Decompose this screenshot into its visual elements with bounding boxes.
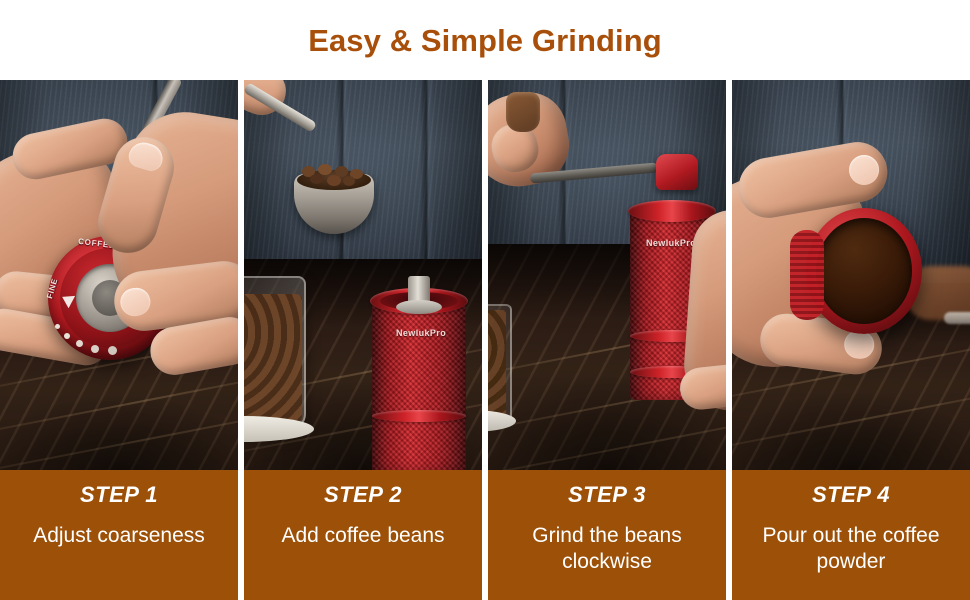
bean-jar [244, 276, 306, 430]
jar-beans [488, 310, 506, 418]
step-panel-4: STEP 4 Pour out the coffee powder [732, 80, 970, 600]
coffee-bean [310, 174, 323, 184]
grinder-threaded-side [790, 230, 824, 320]
coffee-grinder [372, 298, 466, 470]
dial-dot [55, 324, 60, 329]
step-1-label: STEP 1 [80, 483, 158, 507]
fingernail [119, 286, 152, 317]
step-2-caption: STEP 2 Add coffee beans [244, 470, 482, 600]
step-panel-3: NewlukPro STEP 3 Grind the beans clockwi… [488, 80, 726, 600]
step-4-photo [732, 80, 970, 470]
grinder-mid-ring [372, 410, 466, 422]
step-3-photo: NewlukPro [488, 80, 726, 470]
step-2-description: Add coffee beans [275, 523, 450, 549]
dial-dot [108, 346, 117, 355]
fingernail [847, 153, 882, 188]
dial-dot [76, 340, 83, 347]
step-3-label: STEP 3 [568, 483, 646, 507]
grinder-shaft-base [396, 300, 442, 314]
dial-dot [91, 345, 99, 353]
step-panels: FINE COFFEE [0, 80, 970, 600]
header: Easy & Simple Grinding [0, 0, 970, 80]
ground-coffee-powder [816, 218, 912, 324]
dial-dot [64, 333, 70, 339]
step-4-caption: STEP 4 Pour out the coffee powder [732, 470, 970, 600]
brand-label: NewlukPro [396, 328, 446, 338]
step-2-label: STEP 2 [324, 483, 402, 507]
jar-beans [244, 294, 302, 422]
step-1-description: Adjust coarseness [27, 523, 211, 549]
bean-jar-partial [488, 304, 512, 424]
background-metal-object [944, 312, 970, 324]
step-3-description: Grind the beans clockwise [488, 523, 726, 574]
coffee-bean [327, 175, 341, 186]
step-2-photo: NewlukPro [244, 80, 482, 470]
step-panel-2: NewlukPro STEP 2 Add coffee beans [244, 80, 482, 600]
grinder-top-cap [628, 200, 716, 222]
step-4-label: STEP 4 [812, 483, 890, 507]
step-4-description: Pour out the coffee powder [732, 523, 970, 574]
step-3-caption: STEP 3 Grind the beans clockwise [488, 470, 726, 600]
table-plank-line [732, 377, 970, 461]
crank-knob[interactable] [506, 92, 540, 132]
product-infographic: Easy & Simple Grinding [0, 0, 970, 600]
table-plank-line [0, 361, 238, 445]
step-1-photo: FINE COFFEE [0, 80, 238, 470]
page-title: Easy & Simple Grinding [308, 25, 662, 56]
step-panel-1: FINE COFFEE [0, 80, 238, 600]
table-plank-line [488, 407, 726, 470]
table-plank-line [0, 400, 238, 470]
crank-pivot-cap [656, 154, 698, 190]
brand-label: NewlukPro [646, 238, 696, 248]
coffee-bean [318, 164, 332, 175]
fingernail [126, 139, 166, 173]
coffee-bean [343, 176, 355, 186]
step-1-caption: STEP 1 Adjust coarseness [0, 470, 238, 600]
